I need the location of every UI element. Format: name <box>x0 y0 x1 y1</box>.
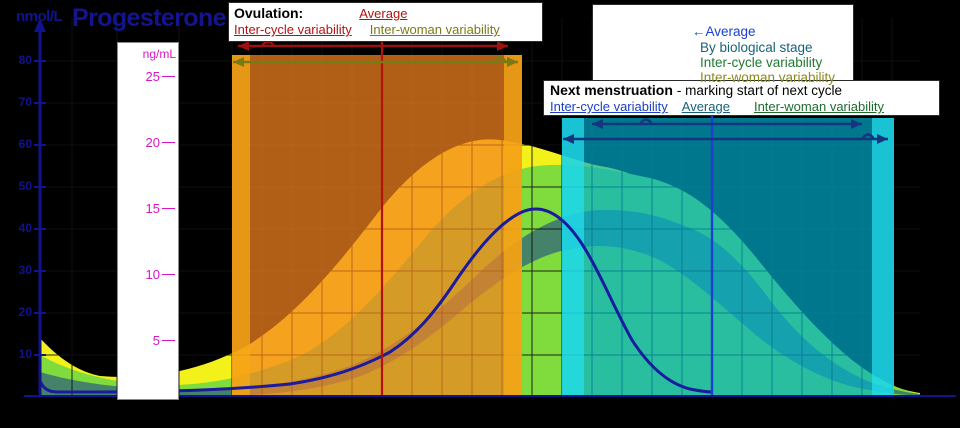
ovulation-average-label: Average <box>359 6 407 21</box>
y-tick-80: 80 <box>2 53 32 67</box>
next-menstruation-average-label: Average <box>682 99 730 114</box>
next-menstruation-overlay <box>562 118 894 396</box>
chart-title: Progesterone <box>72 4 226 33</box>
ng-tick-15: 15 <box>116 201 160 216</box>
y-tick-70: 70 <box>2 95 32 109</box>
next-menstruation-title: Next menstruation <box>550 82 673 98</box>
ovulation-inter-woman-label: Inter-woman variability <box>370 22 500 37</box>
legend-arrow-icon: ← <box>692 24 706 39</box>
y-tick-50: 50 <box>2 179 32 193</box>
ovulation-overlay <box>232 55 522 396</box>
ng-tick-10: 10 <box>116 267 160 282</box>
legend-box: ←Average By biological stage Inter-cycle… <box>592 4 854 81</box>
ovulation-callout-box: Ovulation: Average Inter-cycle variabili… <box>228 2 543 42</box>
ng-dash-10 <box>162 274 175 275</box>
ng-ml-scale-panel: ng/mL 25 20 15 10 5 <box>117 42 179 400</box>
ng-tick-5: 5 <box>116 333 160 348</box>
ng-ml-unit-label: ng/mL <box>118 47 176 61</box>
ovulation-inter-cycle-label: Inter-cycle variability <box>234 22 352 37</box>
ng-dash-25 <box>162 76 175 77</box>
y-tick-20: 20 <box>2 305 32 319</box>
ng-dash-5 <box>162 340 175 341</box>
legend-item-biological-stage: By biological stage <box>700 40 813 55</box>
next-menstruation-inter-cycle-label: Inter-cycle variability <box>550 99 668 114</box>
next-menstruation-inter-woman-label: Inter-woman variability <box>754 99 884 114</box>
legend-item-inter-woman: Inter-woman variability <box>700 70 835 85</box>
ng-tick-20: 20 <box>116 135 160 150</box>
ng-tick-25: 25 <box>116 69 160 84</box>
y-tick-40: 40 <box>2 221 32 235</box>
y-tick-30: 30 <box>2 263 32 277</box>
next-menstruation-subtitle: - marking start of next cycle <box>677 83 842 98</box>
next-menstruation-callout-box: Next menstruation - marking start of nex… <box>543 80 940 116</box>
legend-item-inter-cycle: Inter-cycle variability <box>700 55 822 70</box>
ovulation-title: Ovulation: <box>234 5 303 21</box>
y-tick-60: 60 <box>2 137 32 151</box>
y-axis-unit-label: nmol/L <box>16 8 62 25</box>
chart-root: nmol/L Progesterone 80 70 60 50 40 30 20… <box>0 0 960 428</box>
ng-dash-20 <box>162 142 175 143</box>
legend-label-average: Average <box>706 24 756 39</box>
ng-dash-15 <box>162 208 175 209</box>
legend-item-average: ←Average <box>692 24 756 39</box>
y-tick-10: 10 <box>2 347 32 361</box>
